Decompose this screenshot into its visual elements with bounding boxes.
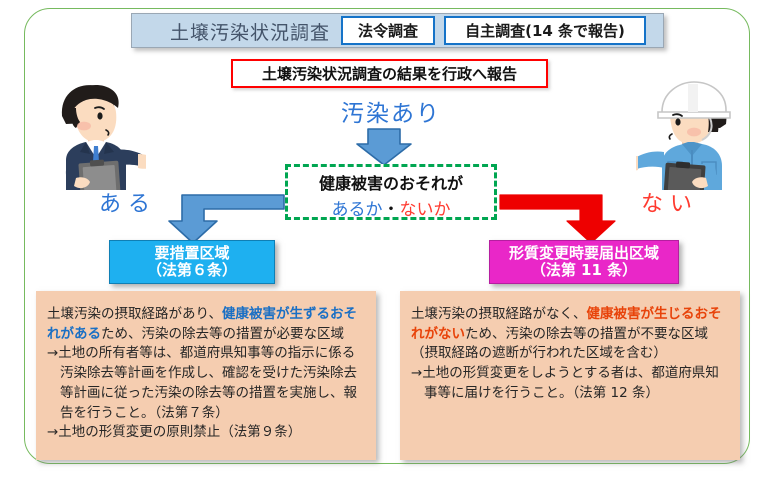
decision-separator: ・	[383, 200, 400, 220]
desc-left-p2: →土地の所有者等は、都道府県知事等の指示に係る汚染除去等計画を作成し、確認を受け…	[47, 344, 367, 423]
result-right-line1: 形質変更時要届出区域	[509, 245, 659, 262]
desc-right-p1a: 土壌汚染の摂取経路がなく、	[411, 306, 587, 322]
description-panel-left: 土壌汚染の摂取経路があり、健康被害が生ずるおそれがあるため、汚染の除去等の措置が…	[36, 291, 376, 460]
decision-no-text: ないか	[400, 200, 451, 220]
health-risk-decision-box: 健康被害のおそれが あるか・ないか	[285, 164, 497, 220]
desc-left-p1b: ため、汚染の除去等の措置が必要な区域	[101, 326, 344, 342]
blue-elbow-arrow-icon	[160, 193, 285, 245]
desc-left-p1a: 土壌汚染の摂取経路があり、	[47, 306, 222, 322]
result-box-notification-area[interactable]: 形質変更時要届出区域 （法第 11 条）	[489, 240, 679, 284]
report-to-government-box: 土壌汚染状況調査の結果を行政へ報告	[231, 59, 548, 88]
header-chip-voluntary-survey[interactable]: 自主調査(14 条で報告)	[444, 16, 646, 45]
header-chip-legal-survey[interactable]: 法令調査	[341, 16, 435, 45]
diagram-canvas: 土壌汚染状況調査 法令調査 自主調査(14 条で報告) 土壌汚染状況調査の結果を…	[0, 0, 780, 482]
blue-down-arrow-icon	[355, 127, 413, 167]
description-left-text: 土壌汚染の摂取経路があり、健康被害が生ずるおそれがあるため、汚染の除去等の措置が…	[47, 305, 367, 443]
decision-line-1: 健康被害のおそれが	[288, 170, 494, 194]
branch-label-no: ない	[641, 186, 699, 218]
decision-line-2: あるか・ないか	[288, 195, 494, 220]
result-box-designated-area[interactable]: 要措置区域 （法第６条）	[109, 240, 275, 284]
desc-left-p3: →土地の形質変更の原則禁止（法第９条）	[47, 423, 367, 443]
decision-yes-text: あるか	[332, 200, 383, 220]
red-elbow-arrow-icon	[499, 193, 624, 245]
branch-label-yes: ある	[99, 186, 157, 218]
result-left-line2: （法第６条）	[147, 262, 237, 279]
result-left-line1: 要措置区域	[154, 245, 229, 262]
businessman-pointing-right-icon	[28, 78, 146, 190]
header-title: 土壌汚染状況調査	[152, 17, 348, 45]
description-panel-right: 土壌汚染の摂取経路がなく、健康被害が生じるおそれがないため、汚染の除去等の措置が…	[400, 291, 740, 460]
contamination-present-label: 汚染あり	[301, 96, 481, 126]
result-right-line2: （法第 11 条）	[531, 262, 637, 279]
desc-right-p2: →土地の形質変更をしようとする者は、都道府県知事等に届けを行うこと。（法第 12…	[411, 364, 731, 403]
description-right-text: 土壌汚染の摂取経路がなく、健康被害が生じるおそれがないため、汚染の除去等の措置が…	[411, 305, 731, 404]
worker-helmet-pointing-left-icon	[636, 78, 754, 190]
